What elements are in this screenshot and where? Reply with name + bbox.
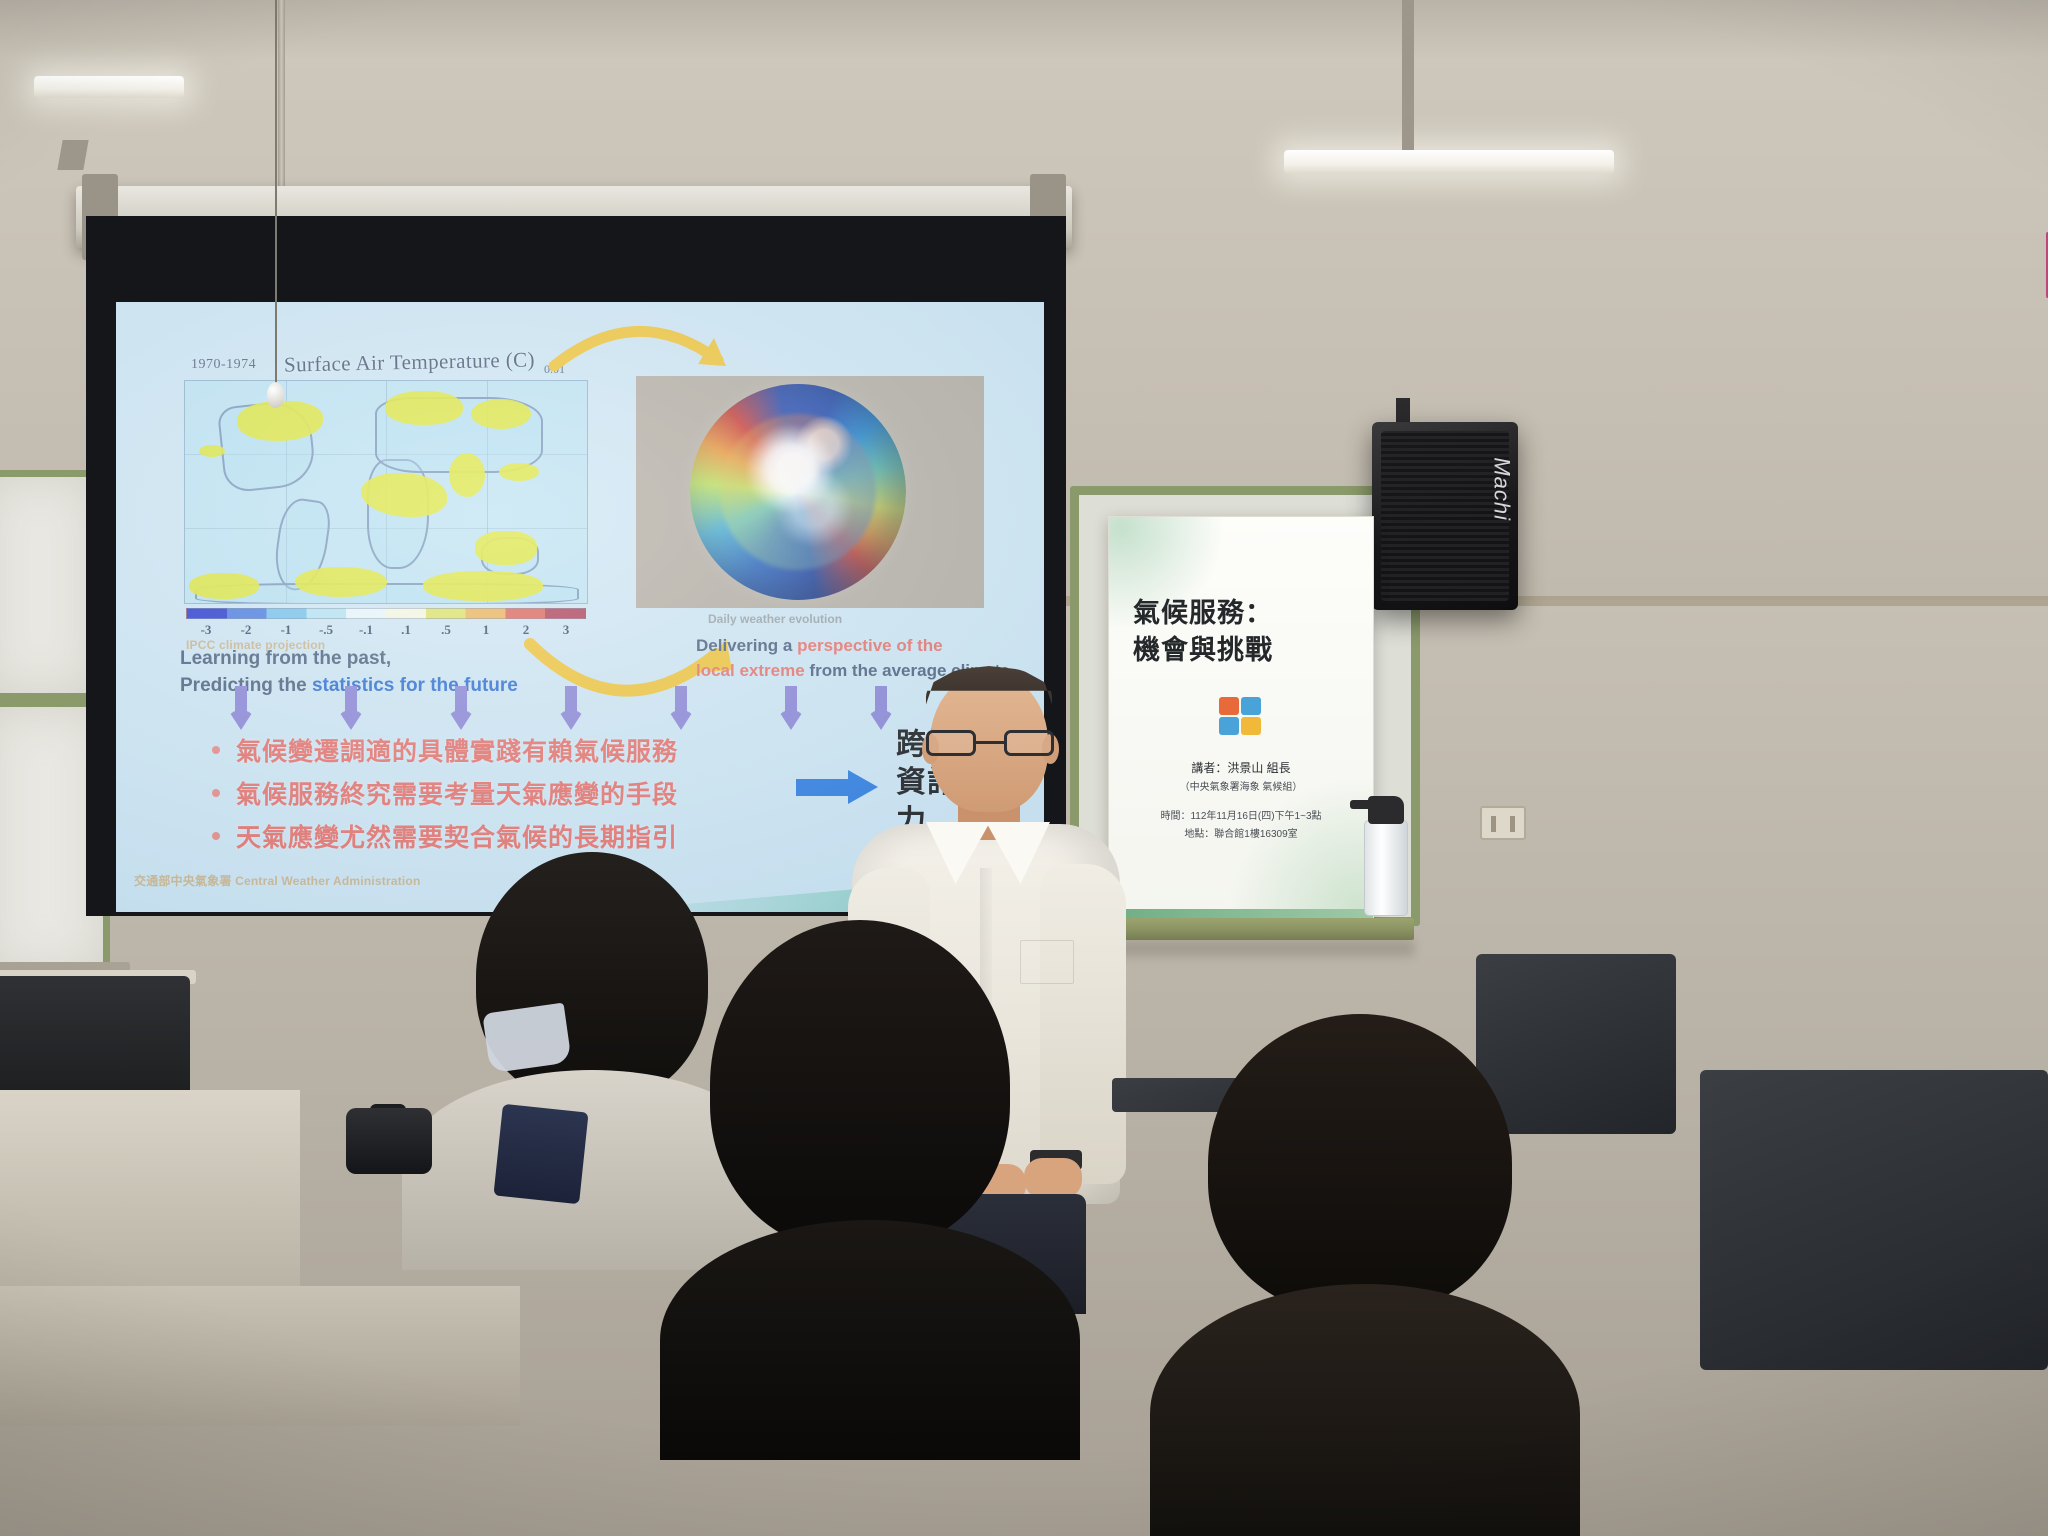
anomaly-blob xyxy=(189,573,259,599)
list-item: 氣候服務終究需要考量天氣應變的手段 xyxy=(212,775,812,811)
colorbar-tick: .5 xyxy=(441,622,451,638)
hanging-cord xyxy=(275,0,277,390)
right-caption-line2-highlight: local extreme xyxy=(696,661,805,680)
audience-member-right xyxy=(1200,1014,1520,1414)
glasses-bridge xyxy=(976,741,1004,744)
down-arrow-icon xyxy=(558,686,584,730)
ceiling-beam xyxy=(0,0,2048,58)
right-caption-line1-plain: Delivering a xyxy=(696,636,797,655)
audience-face-mask xyxy=(482,1003,572,1074)
wall-ledge-shadow xyxy=(1078,940,1414,956)
lower-cabinet xyxy=(0,1090,300,1290)
lecture-room-scene: Machi 1970-1974 Surface Air Temperature … xyxy=(0,0,2048,1536)
bullet-text: 天氣應變尤然需要契合氣候的長期指引 xyxy=(236,818,678,854)
bullet-dot-icon xyxy=(212,832,220,840)
down-arrow-icon xyxy=(448,686,474,730)
cord-weight xyxy=(267,382,284,408)
anomaly-blob xyxy=(423,571,543,601)
floor-area xyxy=(0,1286,520,1426)
left-desk xyxy=(0,976,190,1096)
anomaly-blob xyxy=(449,453,485,497)
audience-member-center xyxy=(700,920,1020,1350)
audience-shoulders xyxy=(660,1220,1080,1460)
colorbar-tick: -.5 xyxy=(319,622,333,638)
right-caption-line1: Delivering a perspective of the xyxy=(696,634,1010,659)
colorbar-tick: -3 xyxy=(201,622,212,638)
down-arrow-icon xyxy=(778,686,804,730)
tripod-head xyxy=(346,1108,432,1174)
presenter-hand-right xyxy=(1024,1158,1082,1198)
poster-time: 時間：112年11月16日(四)下午1~3點 xyxy=(1109,808,1373,827)
slide-period-label: 1970-1974 xyxy=(191,357,256,373)
world-temperature-map xyxy=(184,380,588,604)
anomaly-blob xyxy=(295,567,387,597)
wall-outlet[interactable] xyxy=(1480,806,1526,840)
bullet-dot-icon xyxy=(212,789,220,797)
poster-title-line2: 機會與挑戰 xyxy=(1133,632,1273,669)
light-bracket-left xyxy=(57,140,88,170)
right-caption-line1-highlight: perspective of the xyxy=(797,636,943,655)
sanitizer-pump-cap xyxy=(1368,796,1404,824)
temperature-colorbar xyxy=(186,608,586,619)
colorbar-tick: 1 xyxy=(483,622,490,638)
wall-ledge xyxy=(1078,918,1414,940)
audience-shoulders xyxy=(1150,1284,1580,1536)
audience-bag-strap xyxy=(493,1104,588,1204)
bullet-text: 氣候變遷調適的具體實踐有賴氣候服務 xyxy=(236,732,678,768)
poster-logo-icon xyxy=(1219,697,1263,737)
anomaly-blob xyxy=(385,391,463,425)
anomaly-blob xyxy=(499,463,539,481)
slide-title: Surface Air Temperature (C) xyxy=(284,347,535,377)
colorbar-tick: -1 xyxy=(281,622,292,638)
globe-cloud-swirl xyxy=(720,414,876,570)
left-caption-line1: Learning from the past, xyxy=(180,646,518,673)
wall-conduit xyxy=(278,0,285,200)
slide-footer-org: 交通部中央氣象署 Central Weather Administration xyxy=(134,872,421,889)
ceiling-light-left xyxy=(34,76,184,98)
anomaly-blob xyxy=(475,531,537,565)
down-arrow-icon xyxy=(228,686,254,730)
glasses-lens-right xyxy=(1004,730,1054,756)
whiteboard-left-upper xyxy=(0,470,100,700)
poster-details: 講者：洪景山 組長 （中央氣象署海象 氣候組） 時間：112年11月16日(四)… xyxy=(1109,757,1373,845)
poster-title: 氣候服務： 機會與挑戰 xyxy=(1133,595,1273,670)
audience-hair xyxy=(710,920,1010,1250)
cycle-arrow-top xyxy=(546,308,726,378)
colorbar-tick: -.1 xyxy=(359,622,373,638)
audience-hair xyxy=(1208,1014,1512,1314)
down-arrow-icon xyxy=(668,686,694,730)
poster-affiliation: （中央氣象署海象 氣候組） xyxy=(1109,779,1373,798)
sanitizer-bottle[interactable] xyxy=(1364,820,1408,916)
anomaly-blob xyxy=(199,445,225,457)
presenter-arm-right xyxy=(1040,864,1126,1184)
glasses-lens-left xyxy=(926,730,976,756)
sanitizer-nozzle xyxy=(1350,800,1374,809)
chair-right-front xyxy=(1700,1070,2048,1370)
colorbar-tick: -2 xyxy=(241,622,252,638)
presenter-glasses xyxy=(926,730,1054,756)
ceiling-light-right xyxy=(1284,150,1614,174)
bullet-text: 氣候服務終究需要考量天氣應變的手段 xyxy=(236,775,678,811)
list-item: 氣候變遷調適的具體實踐有賴氣候服務 xyxy=(212,732,812,768)
globe-visualization xyxy=(690,384,906,600)
chinese-bullet-list: 氣候變遷調適的具體實踐有賴氣候服務 氣候服務終究需要考量天氣應變的手段 天氣應變… xyxy=(212,732,812,861)
colorbar-tick: .1 xyxy=(401,622,411,638)
wall-speaker: Machi xyxy=(1372,422,1518,610)
poster-place: 地點：聯合館1樓16309室 xyxy=(1109,826,1373,845)
down-arrow-icon xyxy=(338,686,364,730)
event-poster: 氣候服務： 機會與挑戰 講者：洪景山 組長 （中央氣象署海象 氣候組） 時間：1… xyxy=(1108,516,1374,922)
list-item: 天氣應變尤然需要契合氣候的長期指引 xyxy=(212,818,812,854)
light-bracket-right xyxy=(1402,0,1414,150)
bullet-dot-icon xyxy=(212,746,220,754)
presenter-shirt-pocket xyxy=(1020,940,1074,984)
poster-title-line1: 氣候服務： xyxy=(1133,595,1273,632)
globe-animation-panel xyxy=(636,376,984,608)
anomaly-blob xyxy=(471,399,531,429)
speaker-brand-label: Machi xyxy=(1489,458,1515,522)
poster-speaker: 講者：洪景山 組長 xyxy=(1109,757,1373,779)
globe-caption: Daily weather evolution xyxy=(708,612,842,626)
